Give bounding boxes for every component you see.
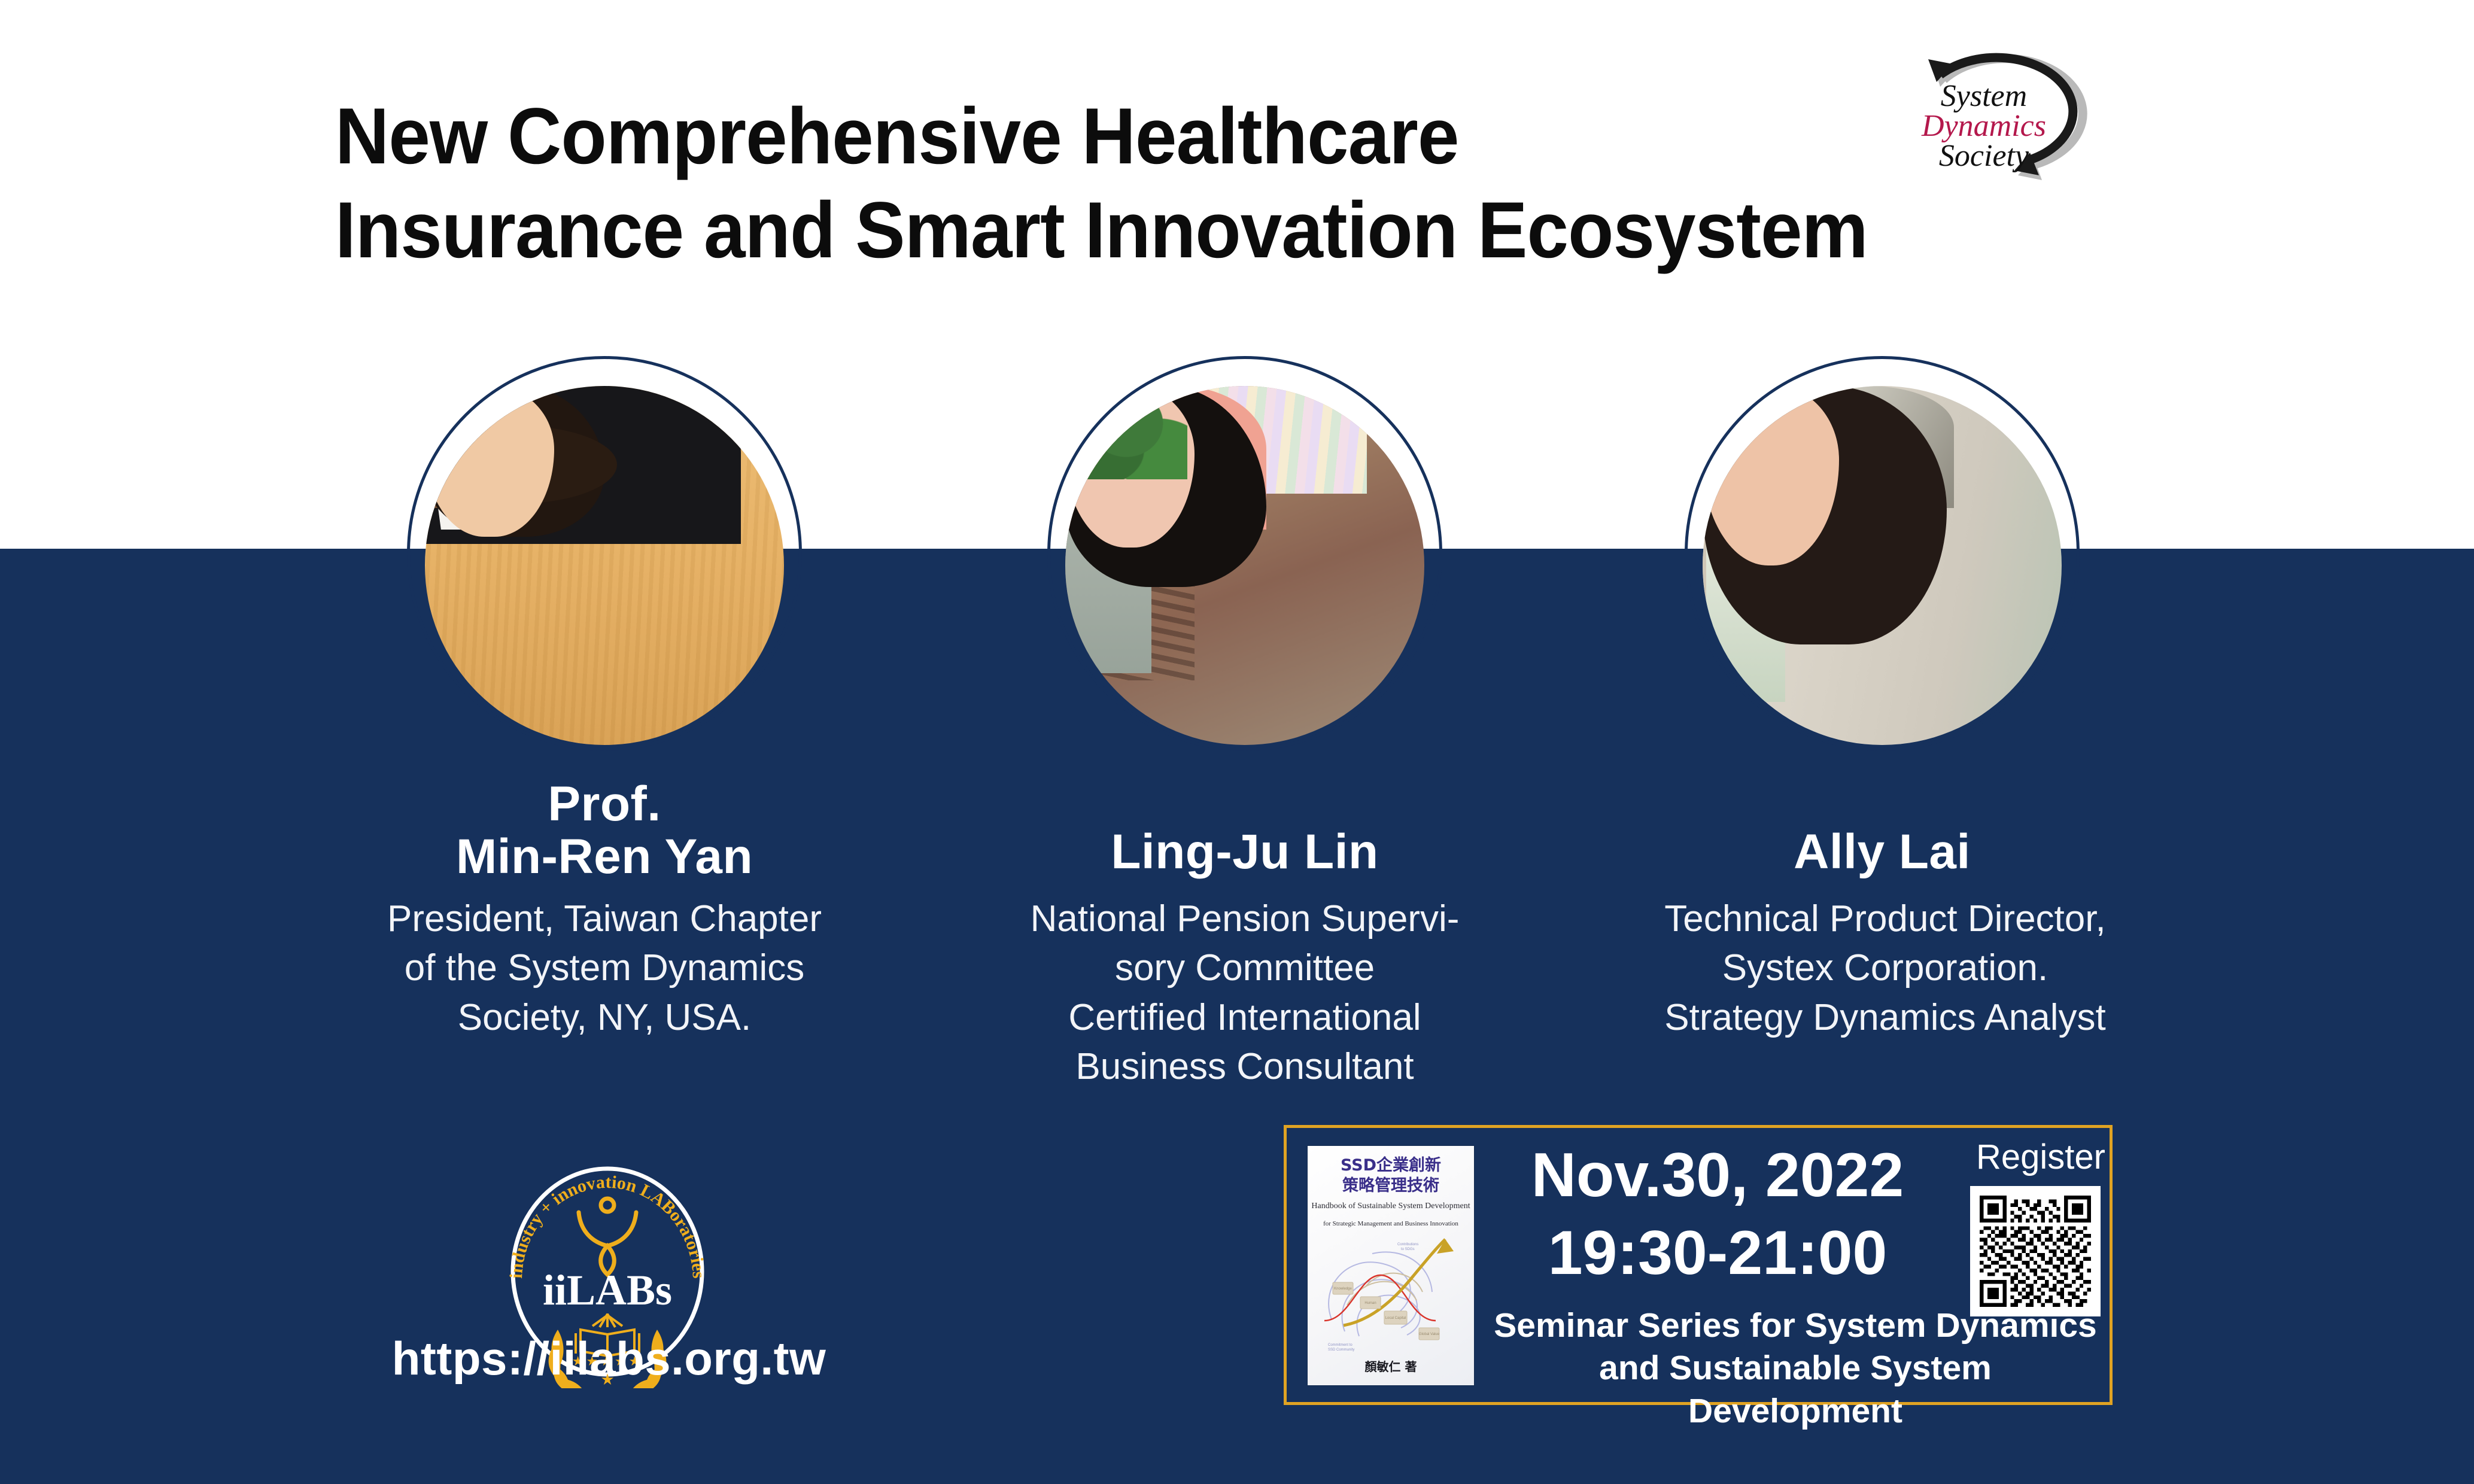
book-title-cn-line1: SSD企業創新 xyxy=(1308,1155,1474,1176)
speaker-bio-2-line1: National Pension Supervi- xyxy=(975,895,1514,944)
speaker-bio-3: Technical Product Director, Systex Corpo… xyxy=(1616,895,2154,1042)
event-series-line2: and Sustainable System Development xyxy=(1490,1347,2101,1433)
svg-text:SSD Community: SSD Community xyxy=(1328,1348,1354,1352)
book-author: 顏敏仁 著 xyxy=(1308,1357,1474,1374)
speaker-name-2: Ling-Ju Lin xyxy=(1005,826,1484,878)
event-time: 19:30-21:00 xyxy=(1514,1218,1921,1289)
iilabs-ring-text: industry + innovation LABoratories xyxy=(506,1172,709,1279)
book-cover-image: SSD企業創新 策略管理技術 Handbook of Sustainable S… xyxy=(1308,1146,1474,1385)
speaker-bio-1-line2: of the System Dynamics xyxy=(335,944,874,993)
speaker-bio-2-line4: Business Consultant xyxy=(975,1042,1514,1091)
book-subtitle-en: Handbook of Sustainable System Developme… xyxy=(1311,1201,1470,1212)
sds-logo-line2: Dynamics xyxy=(1921,109,2046,143)
speaker-name-3-line1: Ally Lai xyxy=(1643,826,2122,878)
speaker-bio-2: National Pension Supervi- sory Committee… xyxy=(975,895,1514,1092)
svg-text:Local Capital: Local Capital xyxy=(1385,1316,1406,1320)
book-title-cn: SSD企業創新 策略管理技術 xyxy=(1308,1155,1474,1196)
speaker-bio-3-line1: Technical Product Director, xyxy=(1616,895,2154,944)
title-line-2: Insurance and Smart Innovation Ecosystem xyxy=(335,184,1775,278)
portrait-ring-3 xyxy=(1685,356,2080,751)
speaker-portrait-2 xyxy=(1047,356,1442,751)
portrait-ring-1 xyxy=(407,356,802,751)
speaker-bio-3-line3: Strategy Dynamics Analyst xyxy=(1616,993,2154,1042)
portrait-ring-2 xyxy=(1047,356,1442,751)
svg-text:Commitment to: Commitment to xyxy=(1328,1343,1353,1347)
speaker-name-1-line2: Min-Ren Yan xyxy=(365,831,844,883)
speaker-name-1-line1: Prof. xyxy=(365,778,844,831)
speaker-portrait-3 xyxy=(1685,356,2080,751)
event-date: Nov.30, 2022 xyxy=(1514,1140,1921,1211)
speaker-bio-1: President, Taiwan Chapter of the System … xyxy=(335,895,874,1042)
speaker-bio-2-line3: Certified International xyxy=(975,993,1514,1042)
sds-logo-line1: System xyxy=(1941,79,2027,113)
speaker-name-3: Ally Lai xyxy=(1643,826,2122,878)
speaker-name-2-line1: Ling-Ju Lin xyxy=(1005,826,1484,878)
svg-text:to SDGs: to SDGs xyxy=(1401,1248,1415,1251)
svg-text:Contributions: Contributions xyxy=(1397,1243,1418,1246)
speaker-name-1: Prof. Min-Ren Yan xyxy=(365,778,844,883)
system-dynamics-society-logo: System Dynamics Society xyxy=(1873,33,2095,206)
organization-url[interactable]: https://iilabs.org.tw xyxy=(350,1331,868,1386)
book-subtitle-en2: for Strategic Management and Business In… xyxy=(1311,1220,1470,1227)
speaker-bio-1-line3: Society, NY, USA. xyxy=(335,993,874,1042)
registration-qr-code[interactable] xyxy=(1970,1186,2101,1316)
svg-text:Human: Human xyxy=(1364,1301,1376,1305)
svg-text:Global Value: Global Value xyxy=(1419,1333,1440,1336)
speaker-bio-3-line2: Systex Corporation. xyxy=(1616,944,2154,993)
speaker-bio-2-line2: sory Committee xyxy=(975,944,1514,993)
svg-text:Knowledge: Knowledge xyxy=(1334,1287,1352,1291)
book-title-cn-line2: 策略管理技術 xyxy=(1308,1176,1474,1196)
iilabs-seal-name: iiLABs xyxy=(543,1266,672,1314)
book-cover-diagram: Knowledge Human Local Capital Global Val… xyxy=(1308,1230,1474,1355)
page-title: New Comprehensive Healthcare Insurance a… xyxy=(335,90,1775,278)
speaker-bio-1-line1: President, Taiwan Chapter xyxy=(335,895,874,944)
poster-canvas: New Comprehensive Healthcare Insurance a… xyxy=(0,0,2474,1484)
event-series-title: Seminar Series for System Dynamics and S… xyxy=(1490,1304,2101,1433)
sds-logo-line3: Society xyxy=(1939,139,2029,173)
speaker-portrait-1 xyxy=(407,356,802,751)
title-line-1: New Comprehensive Healthcare xyxy=(335,90,1775,184)
